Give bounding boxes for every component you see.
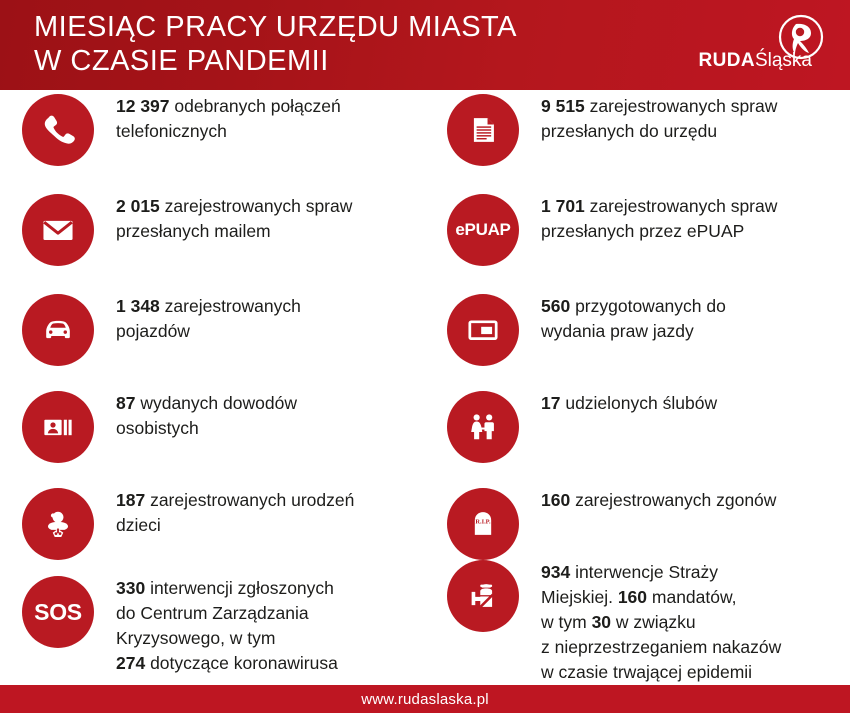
couple-icon (447, 391, 519, 463)
document-icon (447, 94, 519, 166)
stat-text: 1 348 zarejestrowanychpojazdów (116, 294, 425, 344)
stat-text: 12 397 odebranych połączeńtelefonicznych (116, 94, 425, 144)
stats-column-left: 12 397 odebranych połączeńtelefonicznych… (0, 90, 425, 685)
header-banner: MIESIĄC PRACY URZĘDU MIASTA W CZASIE PAN… (0, 0, 850, 90)
police-officer-icon (447, 560, 519, 632)
epuap-icon-label: ePUAP (455, 220, 510, 240)
stat-text: 330 interwencji zgłoszonychdo Centrum Za… (116, 576, 425, 676)
envelope-icon (22, 194, 94, 266)
baby-icon (22, 488, 94, 560)
infographic-page: MIESIĄC PRACY URZĘDU MIASTA W CZASIE PAN… (0, 0, 850, 713)
id-card-icon (22, 391, 94, 463)
svg-text:R.I.P.: R.I.P. (475, 519, 491, 526)
stats-column-right: 9 515 zarejestrowanych sprawprzesłanych … (425, 90, 850, 685)
stat-item-births: 187 zarejestrowanych urodzeńdzieci (0, 488, 425, 560)
logo-wordmark: RUDAŚląska (698, 50, 812, 72)
stat-item-crisis-interventions: SOS 330 interwencji zgłoszonychdo Centru… (0, 576, 425, 676)
logo-brand-bold: RUDA (698, 50, 755, 71)
stat-item-email-cases: 2 015 zarejestrowanych sprawprzesłanych … (0, 194, 425, 266)
stat-item-deaths: R.I.P. 160 zarejestrowanych zgonów (425, 488, 850, 560)
footer-bar: www.rudaslaska.pl (0, 685, 850, 713)
stat-text: 9 515 zarejestrowanych sprawprzesłanych … (541, 94, 850, 144)
stat-item-registered-cases: 9 515 zarejestrowanych sprawprzesłanych … (425, 94, 850, 166)
stat-item-weddings: 17 udzielonych ślubów (425, 391, 850, 463)
epuap-icon: ePUAP (447, 194, 519, 266)
stat-text: 160 zarejestrowanych zgonów (541, 488, 850, 513)
logo-brand-light: Śląska (755, 50, 812, 71)
footer-url[interactable]: www.rudaslaska.pl (361, 691, 489, 708)
stat-text: 560 przygotowanych dowydania praw jazdy (541, 294, 850, 344)
stat-item-driving-licenses: 560 przygotowanych dowydania praw jazdy (425, 294, 850, 366)
driving-license-icon (447, 294, 519, 366)
ruda-slaska-logo: RUDAŚląska (650, 14, 830, 76)
stats-grid: 12 397 odebranych połączeńtelefonicznych… (0, 90, 850, 685)
stat-item-epuap-cases: ePUAP 1 701 zarejestrowanych sprawprzesł… (425, 194, 850, 266)
stat-item-municipal-guard: 934 interwencje StrażyMiejskiej. 160 man… (425, 560, 850, 685)
tombstone-icon: R.I.P. (447, 488, 519, 560)
stat-item-phone-calls: 12 397 odebranych połączeńtelefonicznych (0, 94, 425, 166)
stat-item-id-cards: 87 wydanych dowodówosobistych (0, 391, 425, 463)
car-icon (22, 294, 94, 366)
page-title: MIESIĄC PRACY URZĘDU MIASTA W CZASIE PAN… (34, 10, 634, 78)
phone-icon (22, 94, 94, 166)
stat-text: 187 zarejestrowanych urodzeńdzieci (116, 488, 425, 538)
stat-text: 1 701 zarejestrowanych sprawprzesłanych … (541, 194, 850, 244)
sos-icon: SOS (22, 576, 94, 648)
stat-text: 17 udzielonych ślubów (541, 391, 850, 416)
stat-text: 2 015 zarejestrowanych sprawprzesłanych … (116, 194, 425, 244)
sos-icon-label: SOS (34, 599, 82, 626)
stat-text: 87 wydanych dowodówosobistych (116, 391, 425, 441)
stat-text: 934 interwencje StrażyMiejskiej. 160 man… (541, 560, 850, 685)
stat-item-vehicles: 1 348 zarejestrowanychpojazdów (0, 294, 425, 366)
